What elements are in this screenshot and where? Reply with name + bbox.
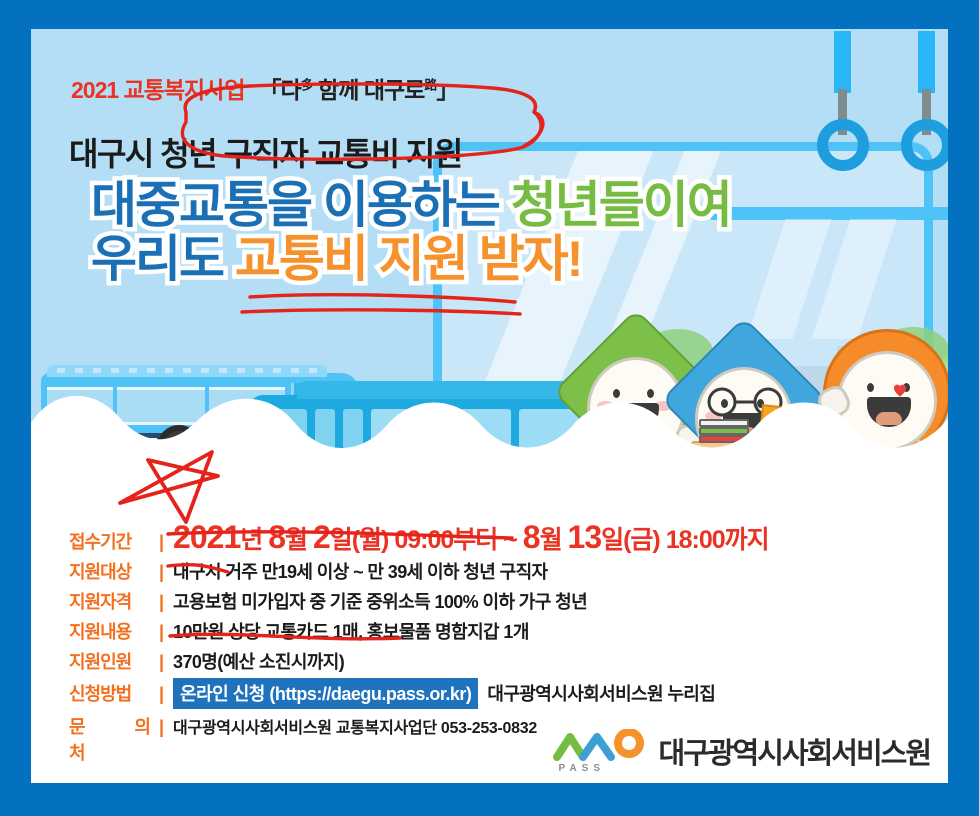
apply-site-name: 대구광역시사회서비스원 누리집 — [487, 684, 715, 704]
info-row-separator: | — [159, 652, 164, 673]
period-segment: 일(월) 09:00부터 ~ — [330, 526, 523, 554]
info-row-separator: | — [159, 684, 164, 705]
headline-seg-green: 청년들이여 — [511, 177, 731, 233]
info-row-label: 지원자격 — [69, 588, 157, 614]
page-subtitle: 대구시 청년 구직자 교통비 지원 — [69, 129, 462, 175]
info-row-value: 고용보험 미가입자 중 기준 중위소득 100% 이하 가구 청년 — [173, 588, 587, 614]
info-row-label: 문 의 처 — [69, 713, 157, 765]
application-period-value: 2021년 8월 2일(월) 09:00부터 ~ 8월 13일(금) 18:00… — [173, 519, 769, 556]
pass-chevrons-icon — [553, 729, 645, 763]
kicker-year: 2021 교통복지사업 — [71, 71, 245, 105]
info-row-label: 지원대상 — [69, 558, 157, 584]
headline-line-1: 대중교통을 이용하는 청년들이여 — [91, 179, 731, 231]
period-segment: 2 — [313, 519, 330, 555]
headline-seg-blue-2: 우리도 — [91, 231, 235, 287]
period-segment: 13 — [568, 519, 602, 555]
info-row-label: 지원인원 — [69, 648, 157, 674]
info-row-separator: | — [159, 532, 164, 553]
info-row: 지원인원|370명(예산 소진시까지) — [69, 648, 948, 674]
info-row: 지원자격|고용보험 미가입자 중 기준 중위소득 100% 이하 가구 청년 — [69, 588, 948, 614]
poster-card: 2021 교통복지사업 「다多 함께 대구로路」 대구시 청년 구직자 교통비 … — [31, 29, 948, 783]
info-row: 지원대상|대구시 거주 만19세 이상 ~ 만 39세 이하 청년 구직자 — [69, 558, 948, 584]
apply-method-value: 온라인 신청 (https://daegu.pass.or.kr)대구광역시사회… — [173, 678, 715, 709]
headline-block: 대중교통을 이용하는 청년들이여 우리도 교통비 지원 받자! — [91, 179, 731, 285]
period-segment: 8 — [523, 519, 540, 555]
info-row-separator: | — [159, 622, 164, 643]
headline-seg-orange: 교통비 지원 받자! — [235, 231, 581, 287]
info-row-label: 신청방법 — [69, 680, 157, 706]
info-row: 접수기간|2021년 8월 2일(월) 09:00부터 ~ 8월 13일(금) … — [69, 519, 948, 556]
period-segment: 월 — [285, 526, 313, 554]
pass-logo-label: PASS — [559, 763, 606, 774]
info-row: 지원내용|10만원 상당 교통카드 1매, 홍보물품 명함지갑 1개 — [69, 618, 948, 644]
info-row-separator: | — [159, 592, 164, 613]
period-segment: 일(금) 18:00까지 — [601, 526, 769, 554]
info-row-value: 대구광역시사회서비스원 교통복지사업단 053-253-0832 — [173, 714, 537, 738]
info-row-label: 접수기간 — [69, 528, 157, 554]
period-segment: 8 — [268, 519, 285, 555]
info-row-value: 370명(예산 소진시까지) — [173, 648, 344, 674]
period-segment: 월 — [540, 526, 568, 554]
organization-logo: PASS 대구광역시사회서비스원 — [553, 729, 930, 773]
period-segment: 2021 — [173, 519, 240, 555]
headline-seg-blue: 대중교통을 이용하는 — [91, 177, 511, 233]
info-row-separator: | — [159, 562, 164, 583]
poster-root: 2021 교통복지사업 「다多 함께 대구로路」 대구시 청년 구직자 교통비 … — [0, 0, 979, 816]
info-row: 신청방법|온라인 신청 (https://daegu.pass.or.kr)대구… — [69, 678, 948, 709]
organization-name: 대구광역시사회서비스원 — [659, 730, 930, 772]
kicker-line: 2021 교통복지사업 「다多 함께 대구로路」 — [71, 71, 458, 105]
info-row-label: 지원내용 — [69, 618, 157, 644]
info-row-value: 대구시 거주 만19세 이상 ~ 만 39세 이하 청년 구직자 — [173, 558, 547, 584]
info-row-value: 10만원 상당 교통카드 1매, 홍보물품 명함지갑 1개 — [173, 618, 529, 644]
pass-logo-mark: PASS — [553, 729, 645, 773]
kicker-program: 「다多 함께 대구로路」 — [259, 71, 459, 105]
cloud-divider-decor — [31, 361, 948, 491]
period-segment: 년 — [240, 526, 268, 554]
info-row-separator: | — [159, 717, 164, 738]
apply-online-link[interactable]: 온라인 신청 (https://daegu.pass.or.kr) — [173, 678, 478, 709]
info-block: 접수기간|2021년 8월 2일(월) 09:00부터 ~ 8월 13일(금) … — [31, 491, 948, 783]
headline-line-2: 우리도 교통비 지원 받자! — [91, 233, 731, 285]
